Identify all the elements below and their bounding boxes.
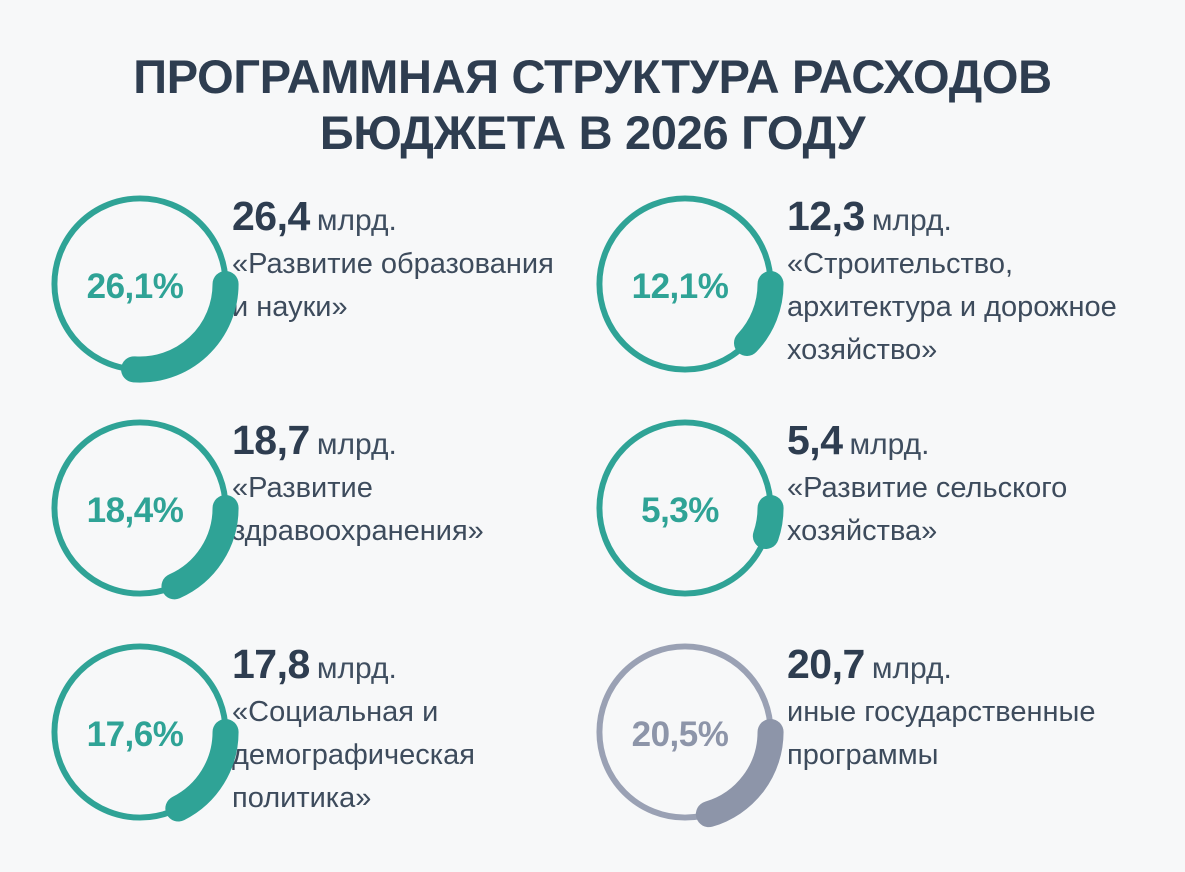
card-description: «Развитие образования и науки» bbox=[232, 243, 562, 329]
amount-unit: млрд. bbox=[317, 428, 397, 461]
donut-chart: 12,1% bbox=[585, 185, 777, 385]
amount-value: 5,4 bbox=[787, 417, 843, 463]
amount-unit: млрд. bbox=[317, 204, 397, 237]
amount-value: 12,3 bbox=[787, 193, 865, 239]
card-text-block: 18,7млрд. «Развитие здравоохранения» bbox=[232, 409, 585, 553]
budget-card: 17,6% 17,8млрд. «Социальная и демографич… bbox=[40, 633, 585, 857]
budget-card: 5,3% 5,4млрд. «Развитие сельского хозяйс… bbox=[585, 409, 1185, 633]
amount-line: 5,4млрд. bbox=[787, 417, 1185, 464]
donut-percent-label: 12,1% bbox=[632, 267, 729, 307]
card-description: «Развитие здравоохранения» bbox=[232, 467, 562, 553]
card-description: «Социальная и демографическая политика» bbox=[232, 691, 562, 820]
donut-chart: 18,4% bbox=[40, 409, 232, 609]
amount-value: 26,4 bbox=[232, 193, 310, 239]
card-text-block: 5,4млрд. «Развитие сельского хозяйства» bbox=[777, 409, 1185, 553]
amount-line: 26,4млрд. bbox=[232, 193, 585, 240]
donut-progress-arc bbox=[178, 732, 225, 808]
budget-card: 12,1% 12,3млрд. «Строительство, архитект… bbox=[585, 185, 1185, 409]
budget-card: 26,1% 26,4млрд. «Развитие образования и … bbox=[40, 185, 585, 409]
donut-chart: 20,5% bbox=[585, 633, 777, 833]
card-description: иные государственные программы bbox=[787, 691, 1177, 777]
amount-value: 20,7 bbox=[787, 641, 865, 687]
card-description: «Строительство, архитектура и дорожное х… bbox=[787, 243, 1177, 372]
budget-card: 20,5% 20,7млрд. иные государственные про… bbox=[585, 633, 1185, 857]
amount-line: 20,7млрд. bbox=[787, 641, 1185, 688]
donut-chart: 17,6% bbox=[40, 633, 232, 833]
donut-chart: 5,3% bbox=[585, 409, 777, 609]
amount-unit: млрд. bbox=[872, 652, 952, 685]
amount-line: 17,8млрд. bbox=[232, 641, 585, 688]
amount-unit: млрд. bbox=[872, 204, 952, 237]
donut-percent-label: 20,5% bbox=[632, 715, 729, 755]
donut-percent-label: 26,1% bbox=[87, 267, 184, 307]
donut-progress-arc bbox=[766, 508, 771, 536]
amount-unit: млрд. bbox=[850, 428, 930, 461]
donut-percent-label: 18,4% bbox=[87, 491, 184, 531]
amount-line: 12,3млрд. bbox=[787, 193, 1185, 240]
amount-line: 18,7млрд. bbox=[232, 417, 585, 464]
budget-card: 18,4% 18,7млрд. «Развитие здравоохранени… bbox=[40, 409, 585, 633]
card-text-block: 12,3млрд. «Строительство, архитектура и … bbox=[777, 185, 1185, 372]
donut-chart: 26,1% bbox=[40, 185, 232, 385]
card-text-block: 17,8млрд. «Социальная и демографическая … bbox=[232, 633, 585, 820]
donut-percent-label: 5,3% bbox=[641, 491, 719, 531]
card-text-block: 20,7млрд. иные государственные программы bbox=[777, 633, 1185, 777]
amount-unit: млрд. bbox=[317, 652, 397, 685]
amount-value: 17,8 bbox=[232, 641, 310, 687]
amount-value: 18,7 bbox=[232, 417, 310, 463]
budget-cards-grid: 26,1% 26,4млрд. «Развитие образования и … bbox=[0, 185, 1185, 857]
page-title: ПРОГРАММНАЯ СТРУКТУРА РАСХОДОВ БЮДЖЕТА В… bbox=[0, 49, 1185, 161]
donut-progress-arc bbox=[747, 284, 771, 343]
card-description: «Развитие сельского хозяйства» bbox=[787, 467, 1177, 553]
donut-percent-label: 17,6% bbox=[87, 715, 184, 755]
card-text-block: 26,4млрд. «Развитие образования и науки» bbox=[232, 185, 585, 329]
